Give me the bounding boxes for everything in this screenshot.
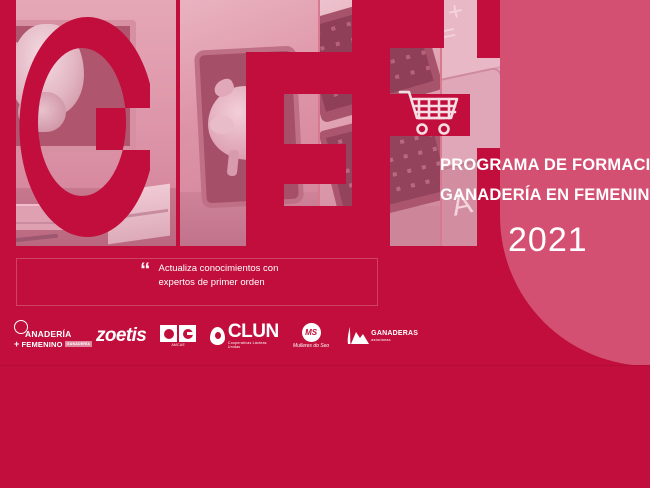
logo-clun[interactable]: CLUN Cooperativas Lácteas Unidas xyxy=(210,322,279,349)
panel-year: 2021 xyxy=(508,222,646,258)
milk-drop-icon xyxy=(210,327,225,345)
gef-logo-tag: GANADERÍA xyxy=(65,341,93,347)
ganaderas-line2: asturianas xyxy=(371,338,418,342)
logo-ganaderia-en-femenino[interactable]: ANADERÍA + FEMENINO GANADERÍA xyxy=(14,323,82,349)
amcae-mark xyxy=(160,325,196,342)
clun-name: CLUN xyxy=(228,322,279,341)
plus-icon: + xyxy=(14,339,19,349)
quote-line-1: Actualiza conocimientos con xyxy=(159,262,279,276)
quote-line-2: expertos de primer orden xyxy=(159,276,279,290)
quote-block: “ Actualiza conocimientos con expertos d… xyxy=(140,262,380,290)
sponsor-logo-strip: ANADERÍA + FEMENINO GANADERÍA zoetis AMC… xyxy=(14,318,406,354)
shopping-cart-icon xyxy=(398,86,462,138)
gef-logo-line2: + FEMENINO GANADERÍA xyxy=(14,339,92,349)
logo-amcae[interactable]: AMCAE xyxy=(160,325,196,347)
photo-collage: + = A xyxy=(0,0,505,246)
quote-text: Actualiza conocimientos con expertos de … xyxy=(159,262,279,290)
amcae-square-left xyxy=(160,325,177,342)
clun-text: CLUN Cooperativas Lácteas Unidas xyxy=(228,322,279,349)
amcae-square-right xyxy=(179,325,196,342)
mulleres-name: Mulleres do Seo xyxy=(293,343,329,349)
panel-title-line2: GANADERÍA EN FEMENINO xyxy=(440,180,646,210)
logo-zoetis[interactable]: zoetis xyxy=(96,325,146,347)
banner-card: + = A xyxy=(0,0,650,365)
card-bottom-seam xyxy=(0,365,650,366)
ganaderas-text: GANADERAS asturianas xyxy=(371,330,418,341)
quote-mark-icon: “ xyxy=(140,262,151,279)
circle-g-icon xyxy=(14,320,28,334)
logo-ganaderas-asturianas[interactable]: GANADERAS asturianas xyxy=(343,327,418,345)
panel-title-line1: PROGRAMA DE FORMACIÓN xyxy=(440,150,646,180)
amcae-label: AMCAE xyxy=(171,343,185,347)
ganaderas-line1: GANADERAS xyxy=(371,330,418,337)
title-panel: PROGRAMA DE FORMACIÓN GANADERÍA EN FEMEN… xyxy=(500,0,650,365)
logo-mulleres[interactable]: MS Mulleres do Seo xyxy=(293,323,329,349)
promo-banner: + = A xyxy=(0,0,650,488)
clun-subtitle: Cooperativas Lácteas Unidas xyxy=(228,342,279,349)
gef-logo-line1: ANADERÍA xyxy=(14,323,92,339)
mountains-icon xyxy=(343,327,369,345)
title-panel-text: PROGRAMA DE FORMACIÓN GANADERÍA EN FEMEN… xyxy=(440,150,646,258)
mulleres-monogram-icon: MS xyxy=(302,323,321,342)
